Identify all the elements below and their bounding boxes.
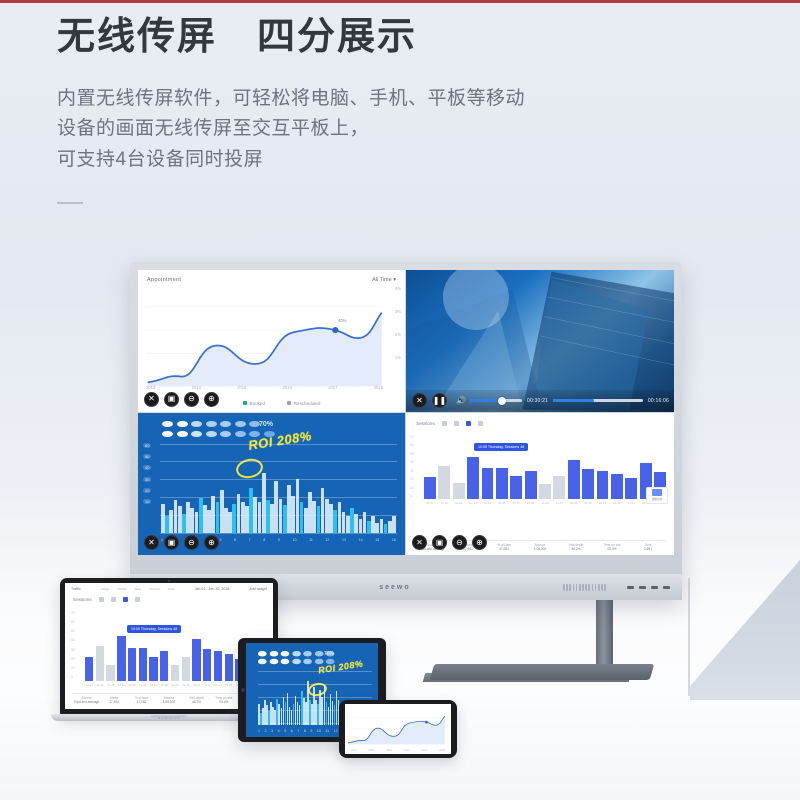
dot-icon [303,659,312,664]
bar [304,508,308,533]
close-icon[interactable]: ✕ [144,535,159,550]
bar [363,512,367,533]
badge-label: 视图切换 [652,497,662,501]
x-tick: 2017 [328,385,337,390]
sessions-y-axis: 70 60 50 40 30 20 10 0 [410,435,414,499]
bar [220,490,224,533]
capture-icon[interactable]: ▣ [164,535,179,550]
laptop-table: SourceViews% of NewBounceVisit depthTime… [73,693,265,704]
y-tick: 0 [410,494,414,498]
close-icon[interactable]: ✕ [412,535,427,550]
bar [496,468,508,499]
dot-icon [220,421,231,428]
x-tick: 2015 [237,385,246,390]
bar [207,510,211,533]
brand-logo: seewo [379,584,410,591]
dot-icon [315,659,324,664]
bar [350,508,354,533]
y-tick: 1% [395,355,401,360]
bar [237,494,241,533]
quadrant-video[interactable]: ✕ ❚❚ 🔊 00:30:21 00 [406,270,674,413]
x-tick: 2018 [439,749,445,752]
x-tick: 2013 [146,385,155,390]
hero-section: 无线传屏 四分展示 内置无线传屏软件，可轻松将电脑、手机、平板等移动 设备的画面… [57,14,757,204]
x-tick: 01-07 [510,501,522,505]
laptop-chart-header: Sessions [73,597,140,602]
bar [625,478,637,499]
laptop-menu-item[interactable]: Sources [149,587,160,591]
bar [359,519,363,533]
top-accent-rule [0,0,800,3]
bar [195,512,199,533]
bar [392,516,396,533]
x-tick: 01-06 [496,501,508,505]
bar [171,665,179,681]
zoom-in-icon[interactable]: ⊕ [204,392,219,407]
bar [149,657,157,682]
bar [342,512,346,533]
table-cell: 46,2% [558,547,594,551]
x-tick: 12 [325,538,329,542]
bar [582,469,594,498]
video-current-time: 00:30:21 [527,398,548,404]
bar [270,504,274,533]
y-tick: 40 [143,465,151,470]
bar [96,646,104,681]
y-tick: 40 [71,638,75,642]
quadrant-toolbar[interactable]: ✕ ▣ ⊖ ⊕ [144,392,219,407]
bar [291,496,295,533]
video-total-time: 00:16:06 [648,398,669,404]
x-tick: 7 [297,729,299,733]
table-cell: Paid and average [73,700,100,704]
laptop-date-range[interactable]: Jan 01 - Jan 30, 2018 [195,587,230,591]
table-cell: 47,082 [128,700,155,704]
table-cell: 46,2% [183,700,210,704]
x-tick: 01-15 [625,501,637,505]
chart-type-icon[interactable] [466,421,471,426]
quadrant-sessions[interactable]: Sessions 70 60 50 40 30 20 10 0 10:00 Th… [406,413,674,556]
bar [266,500,270,533]
y-tick: 70 [410,435,414,439]
laptop-menu-item[interactable]: Usage [101,587,110,591]
bar [321,488,325,533]
dot-icon [191,421,202,428]
laptop-app-header: Traffic UsageDetailsStatsSourcesFlow Jan… [71,587,267,591]
phone-device: 201320142015201620172018 [339,700,457,758]
y-tick: 2% [395,332,401,337]
x-tick: 11 [309,538,313,542]
refresh-icon[interactable] [99,597,104,602]
dot-icon [206,421,217,428]
bar [525,471,537,498]
x-tick: 2016 [404,749,410,752]
appointment-legend: Booked Rescheduled [243,401,320,406]
bar [224,508,228,533]
zoom-out-icon[interactable]: ⊖ [452,535,467,550]
bar [467,457,479,498]
bar [258,502,262,533]
dot-icon [235,431,246,438]
monitor-stand-base [430,664,655,680]
bar [482,468,494,498]
x-tick: 9 [278,538,280,542]
x-tick: 01-04 [117,683,125,687]
x-tick: 01-05 [128,683,136,687]
table-cell: 00,4% [594,547,630,551]
dot-icon [191,431,202,438]
bar [190,508,194,533]
bar [317,506,321,533]
x-tick: 5 [284,729,286,733]
bar [308,492,312,533]
x-tick: 2013 [351,749,357,752]
appointment-chart [138,270,405,412]
laptop-chart-title: Sessions [73,597,92,602]
video-buttons[interactable]: ✕ ❚❚ [412,393,447,408]
x-tick: 01-05 [482,501,494,505]
bar [106,665,114,681]
chart-type-icon[interactable] [123,597,128,602]
bar [192,639,200,681]
x-tick: 13 [342,538,346,542]
table-cell: 1,08,002 [522,547,558,551]
export-icon[interactable] [135,597,140,602]
laptop-menu-item[interactable]: Details [117,587,126,591]
bar [438,466,450,498]
sessions-x-axis: 01-0101-0201-0301-0401-0501-0601-0701-08… [424,501,666,505]
y-tick: 30 [143,477,151,482]
bar [203,649,211,681]
zoom-out-icon[interactable]: ⊖ [184,392,199,407]
display-screen: Appointment All Time ▾ 40% 4% [138,270,674,555]
laptop-menu[interactable]: UsageDetailsStatsSourcesFlow [101,587,175,591]
laptop-menu-item[interactable]: Stats [135,587,142,591]
x-tick: 10 [292,538,296,542]
bar [312,501,316,533]
bar [169,510,173,533]
bar [597,471,609,498]
x-tick: 01-14 [611,501,623,505]
bar [384,524,388,533]
bar [287,485,291,533]
x-tick: 8 [304,729,306,733]
y-tick: 20 [71,657,75,661]
x-tick: 8 [263,538,265,542]
capture-icon[interactable]: ▣ [164,392,179,407]
export-icon[interactable] [478,421,483,426]
dot-icon [258,659,267,664]
y-tick: 20 [410,477,414,481]
zoom-out-icon[interactable]: ⊖ [184,535,199,550]
bar [274,481,278,533]
close-icon[interactable]: ✕ [144,392,159,407]
dot-icon [281,651,290,656]
bar [329,504,333,533]
y-tick: 30 [410,469,414,473]
dot-icon [292,659,301,664]
bar [367,521,371,533]
legend-label: Rescheduled [294,401,321,406]
x-tick: 9 [310,729,312,733]
bar [165,516,169,533]
table-row: Paid and average17,69247,0821,08,00246,2… [73,700,265,704]
x-tick: 01-06 [139,683,147,687]
roi-y-axis: 60 50 40 30 20 10 [143,443,151,505]
divider-dash [57,202,83,204]
legend-item-booked: Booked [243,401,265,406]
page-title: 无线传屏 四分展示 [57,14,757,62]
x-tick: 01-02 [438,501,450,505]
bar [228,512,232,533]
laptop-menu-item[interactable]: Flow [168,587,174,591]
sessions-bars [424,451,666,499]
pause-icon[interactable]: ❚❚ [432,393,447,408]
bar [232,504,236,533]
bar [245,506,249,533]
y-tick: 70 [71,611,75,615]
x-tick: 01-12 [203,683,211,687]
roi-percent-label: 70% [324,651,334,657]
y-tick: 50 [410,452,414,456]
roi-bars [161,471,396,533]
bar [225,654,233,681]
bar [279,499,283,533]
x-tick: 6 [291,729,293,733]
phone-screen: 201320142015201620172018 [345,704,451,754]
monitor-stand-neck [596,596,613,670]
roi-percent-label: 70% [259,421,273,428]
x-tick: 01-09 [539,501,551,505]
progress-fill [553,399,594,402]
table-cell: 1,08,002 [155,700,182,704]
webcam-icon [168,580,170,582]
y-tick: 60 [71,620,75,624]
x-tick: 01-01 [85,683,93,687]
bar [539,484,551,498]
bar [211,496,215,533]
bar [85,657,93,681]
dot-icon [292,651,301,656]
sessions-title: Sessions [416,421,435,426]
bar [375,523,379,533]
x-tick: 01-13 [214,683,222,687]
dot-icon [162,431,173,438]
x-tick: 12 [334,729,338,733]
x-tick: 2018 [374,385,383,390]
x-tick: 2014 [192,385,201,390]
x-tick: 2017 [422,749,428,752]
zoom-in-icon[interactable]: ⊕ [204,535,219,550]
video-progress-slider[interactable] [553,399,643,402]
bar [160,651,168,681]
bar [214,651,222,681]
dot-icon [206,431,217,438]
y-tick: 0 [71,675,75,679]
bar [139,648,147,681]
x-tick: 01-12 [582,501,594,505]
appointment-peak-label: 40% [338,318,346,323]
calendar-icon[interactable] [454,421,459,426]
capture-icon[interactable]: ▣ [432,535,447,550]
x-tick: 16 [392,538,396,542]
x-tick: 01-08 [525,501,537,505]
y-tick: 10 [143,499,151,504]
refresh-icon[interactable] [442,421,447,426]
x-tick: 01-09 [171,683,179,687]
bar [216,502,220,533]
bar [182,514,186,533]
legend-item-rescheduled: Rescheduled [287,401,320,406]
laptop-app-title: Traffic [71,587,81,591]
x-tick: 01-08 [160,683,168,687]
quadrant-toolbar[interactable]: ✕ ▣ ⊖ ⊕ [412,535,487,550]
bar [380,519,384,533]
x-tick: 2016 [283,385,292,390]
volume-slider[interactable] [470,399,522,402]
bar [510,476,522,499]
dot-icon [220,431,231,438]
y-tick: 4% [395,286,401,291]
video-controls[interactable]: ✕ ❚❚ 🔊 00:30:21 00 [406,390,674,412]
bar [371,516,375,533]
x-tick: 01-01 [424,501,436,505]
calendar-icon[interactable] [111,597,116,602]
speaker-grille-icon [563,584,606,591]
dot-icon [177,431,188,438]
y-tick: 30 [71,648,75,652]
bar [253,497,257,533]
y-tick: 50 [143,454,151,459]
bar [128,648,136,681]
y-tick: 10 [410,486,414,490]
dot-row [258,659,334,664]
bar [283,505,287,533]
bar [568,460,580,498]
bar [325,499,329,533]
bar [300,502,304,533]
bar [553,476,565,499]
bar [354,514,358,533]
laptop-y-axis: 70 60 50 40 30 20 10 0 [71,611,75,679]
sessions-header: Sessions [416,421,483,426]
x-tick: 6 [234,538,236,542]
volume-control[interactable]: 🔊 [456,396,522,405]
x-tick: 4 [278,729,280,733]
dot-row [258,651,334,656]
bar [333,510,337,533]
home-button-icon[interactable] [241,688,245,692]
x-tick: 01-13 [597,501,609,505]
table-cell: 2,691 [630,547,666,551]
quadrant-appointment[interactable]: Appointment All Time ▾ 40% 4% [138,270,406,413]
bar [186,502,190,533]
zoom-in-icon[interactable]: ⊕ [472,535,487,550]
bar [338,502,342,533]
page-subtitle: 内置无线传屏软件，可轻松将电脑、手机、平板等移动 设备的画面无线传屏至交互平板上… [57,84,757,176]
x-tick: 01-04 [467,501,479,505]
legend-swatch-icon [243,401,247,405]
x-tick: 10 [317,729,321,733]
dot-icon [269,651,278,656]
dot-icon [269,659,278,664]
sessions-tooltip: 10:00 Thursday, Sessions 48 [474,443,528,451]
laptop-brand: MacBook Pro [158,716,180,720]
appointment-x-axis: 2013 2014 2015 2016 2017 2018 [146,385,383,390]
table-cell: 17,692 [100,700,127,704]
dot-row [162,421,275,428]
y-tick: 10 [71,666,75,670]
dot-icon [235,421,246,428]
bar [424,477,436,499]
x-tick: 01-10 [182,683,190,687]
x-tick: 01-14 [225,683,233,687]
bar [611,474,623,499]
legend-label: Booked [250,401,266,406]
volume-icon[interactable]: 🔊 [456,396,466,405]
display-bezel: Appointment All Time ▾ 40% 4% [130,262,682,600]
x-tick: 7 [249,538,251,542]
quadrant-roi[interactable]: 70% ROI 208% 60 50 40 30 20 10 123456789… [138,413,406,556]
add-widget-button[interactable]: Add widget [249,587,267,591]
x-tick: 01-02 [96,683,104,687]
dot-icon [315,651,324,656]
bar [161,504,165,533]
dot-icon [281,659,290,664]
port-row [627,586,670,589]
power-cable [688,578,690,696]
dot-icon [303,651,312,656]
quadrant-toolbar[interactable]: ✕ ▣ ⊖ ⊕ [144,535,219,550]
legend-swatch-icon [287,401,291,405]
close-icon[interactable]: ✕ [412,393,427,408]
bar [178,506,182,533]
bar [117,636,125,681]
x-tick: 2015 [386,749,392,752]
y-tick: 50 [71,629,75,633]
bar [174,500,178,533]
x-tick: 01-11 [192,683,200,687]
x-tick: 11 [325,729,329,733]
bar [203,505,207,533]
grid-icon [652,489,662,496]
y-tick: 3% [395,309,401,314]
appointment-y-axis: 4% 3% 2% 1% [395,286,401,360]
dot-icon [162,421,173,428]
y-tick: 60 [410,443,414,447]
x-tick: 01-11 [568,501,580,505]
interactive-display: Appointment All Time ▾ 40% 4% [130,262,682,600]
bar [388,521,392,533]
y-tick: 60 [143,443,151,448]
view-toggle-badge[interactable]: 视图切换 [646,487,668,504]
bar [262,473,266,533]
x-tick: 01-07 [149,683,157,687]
x-tick: 2014 [369,749,375,752]
bar [296,479,300,533]
dot-icon [258,651,267,656]
x-tick: 2 [265,729,267,733]
volume-knob[interactable] [498,397,506,405]
x-tick: 1 [258,729,260,733]
phone-chart [345,704,451,754]
bar [346,516,350,533]
table-cell: 00,4% [210,700,237,704]
bar [453,483,465,498]
x-tick: 01-03 [453,501,465,505]
table-cell: 47,082 [486,547,522,551]
y-tick: 40 [410,460,414,464]
